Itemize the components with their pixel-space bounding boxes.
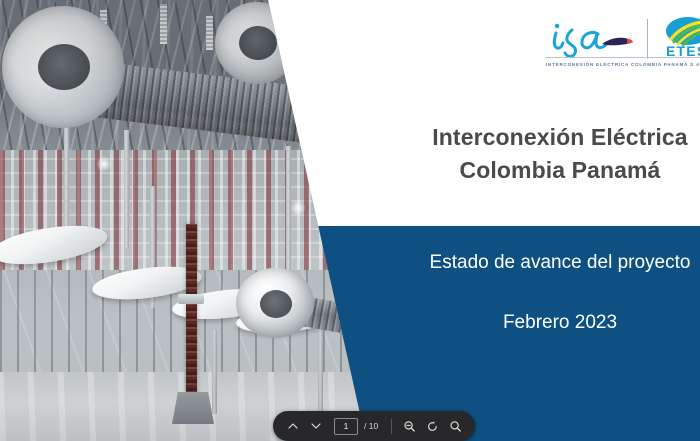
page-title-line-1: Interconexión Eléctrica — [300, 121, 700, 154]
next-page-button[interactable] — [305, 416, 326, 437]
magnifier-icon — [449, 420, 462, 433]
zoom-out-button[interactable] — [399, 416, 420, 437]
pdf-page-canvas: ETESA INTERCONEXIÓN ELÉCTRICA COLOMBIA P… — [0, 0, 700, 441]
zoom-in-button[interactable] — [445, 416, 466, 437]
page-date: Febrero 2023 — [300, 312, 700, 334]
magnifier-minus-icon — [403, 420, 416, 433]
rotate-clockwise-icon — [426, 420, 439, 433]
chevron-down-icon — [310, 420, 322, 432]
photo-vignette — [0, 0, 366, 441]
isa-wordmark-icon — [545, 17, 637, 61]
logo-divider — [647, 19, 648, 59]
page-subtitle: Estado de avance del proyecto — [300, 252, 700, 274]
photo-inner — [0, 0, 366, 441]
page-title-line-2: Colombia Panamá — [300, 154, 700, 187]
rotate-button[interactable] — [422, 416, 443, 437]
valve-hall-photo — [0, 0, 366, 441]
pdf-viewer-toolbar[interactable]: 1 / 10 — [273, 411, 475, 441]
logo-row: ETESA — [545, 16, 700, 62]
legal-entity-name: INTERCONEXIÓN ELÉCTRICA COLOMBIA PANAMÁ … — [546, 62, 700, 67]
logo-rule — [545, 57, 700, 58]
etesa-logo: ETESA — [658, 16, 700, 62]
toolbar-divider — [391, 419, 392, 434]
etesa-globe-icon: ETESA — [658, 16, 700, 62]
page-number-input[interactable]: 1 — [334, 418, 358, 435]
previous-page-button[interactable] — [282, 416, 303, 437]
page-count-label: / 10 — [364, 421, 378, 431]
page-title: Interconexión Eléctrica Colombia Panamá — [300, 121, 700, 187]
chevron-up-icon — [287, 420, 299, 432]
isa-logo — [545, 17, 637, 61]
